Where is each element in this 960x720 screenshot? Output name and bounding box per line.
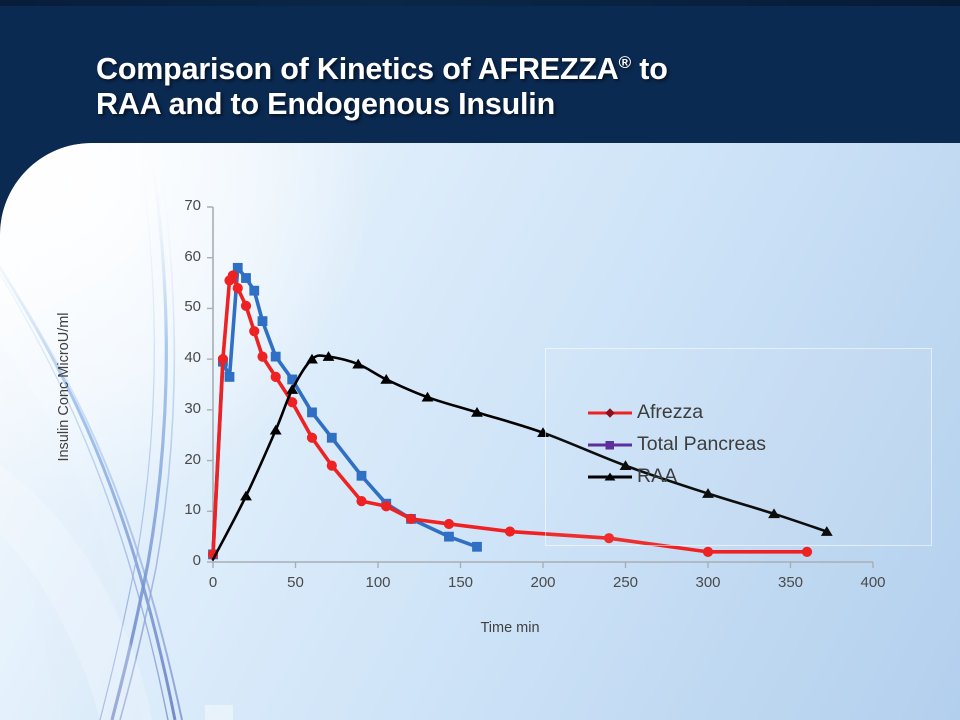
data-point bbox=[444, 519, 453, 528]
data-point bbox=[473, 542, 482, 551]
legend-marker-raa bbox=[586, 470, 634, 484]
data-point bbox=[382, 502, 391, 511]
data-point bbox=[703, 547, 712, 556]
series-line bbox=[213, 268, 477, 555]
page-title-line1: Comparison of Kinetics of AFREZZA bbox=[96, 52, 619, 86]
data-point bbox=[327, 461, 336, 470]
legend-marker-glyph bbox=[586, 438, 634, 452]
page-title-line1-tail: to bbox=[631, 52, 668, 86]
data-point bbox=[250, 286, 259, 295]
legend-label-afrezza: Afrezza bbox=[637, 401, 703, 424]
legend-label-raa: RAA bbox=[637, 465, 677, 488]
data-point bbox=[242, 274, 251, 283]
y-tick-label: 60 bbox=[169, 248, 201, 265]
insulin-kinetics-chart: 010203040506070 050100150200250300350400… bbox=[0, 143, 960, 720]
y-tick-label: 40 bbox=[169, 349, 201, 366]
registered-trademark-icon: ® bbox=[619, 53, 631, 72]
data-point bbox=[228, 271, 237, 280]
x-tick-label: 350 bbox=[766, 574, 816, 591]
data-point bbox=[250, 327, 259, 336]
legend-label-total-pancreas: Total Pancreas bbox=[637, 433, 766, 456]
legend-marker-total-pancreas bbox=[586, 438, 634, 452]
data-point bbox=[271, 425, 281, 434]
data-point bbox=[505, 527, 514, 536]
x-tick-label: 50 bbox=[271, 574, 321, 591]
data-point bbox=[241, 491, 251, 500]
data-point bbox=[271, 352, 280, 361]
header-top-strip bbox=[0, 0, 960, 6]
x-tick-label: 0 bbox=[188, 574, 238, 591]
data-point bbox=[258, 352, 267, 361]
x-tick-label: 200 bbox=[518, 574, 568, 591]
slide-root: Comparison of Kinetics of AFREZZA® to RA… bbox=[0, 0, 960, 720]
data-point bbox=[445, 532, 454, 541]
y-tick-label: 0 bbox=[169, 552, 201, 569]
legend-marker-afrezza bbox=[586, 406, 634, 420]
page-title: Comparison of Kinetics of AFREZZA® to RA… bbox=[96, 52, 876, 122]
data-point bbox=[258, 317, 267, 326]
content-panel: 010203040506070 050100150200250300350400… bbox=[0, 143, 960, 720]
x-axis-title: Time min bbox=[430, 620, 590, 636]
legend-marker-glyph bbox=[586, 406, 634, 420]
data-point bbox=[225, 372, 234, 381]
data-point bbox=[802, 547, 811, 556]
x-tick-label: 250 bbox=[601, 574, 651, 591]
data-point bbox=[308, 408, 317, 417]
data-point bbox=[357, 497, 366, 506]
legend-item-afrezza[interactable]: Afrezza bbox=[586, 401, 703, 424]
x-tick-label: 400 bbox=[848, 574, 898, 591]
y-tick-label: 50 bbox=[169, 298, 201, 315]
data-point bbox=[271, 372, 280, 381]
data-point bbox=[241, 301, 250, 310]
legend-item-total-pancreas[interactable]: Total Pancreas bbox=[586, 433, 766, 456]
x-tick-label: 150 bbox=[436, 574, 486, 591]
page-title-line2: RAA and to Endogenous Insulin bbox=[96, 87, 555, 121]
data-point bbox=[406, 514, 415, 523]
y-tick-label: 20 bbox=[169, 451, 201, 468]
y-axis-title: Insulin Conc MicroU/ml bbox=[56, 277, 72, 497]
data-point bbox=[307, 433, 316, 442]
chart-legend: Afrezza Total Pancreas RAA bbox=[545, 348, 932, 546]
data-point bbox=[233, 284, 242, 293]
data-point bbox=[357, 471, 366, 480]
legend-marker-glyph bbox=[586, 470, 634, 484]
y-tick-label: 10 bbox=[169, 501, 201, 518]
x-tick-label: 300 bbox=[683, 574, 733, 591]
y-tick-label: 70 bbox=[169, 197, 201, 214]
legend-item-raa[interactable]: RAA bbox=[586, 465, 677, 488]
data-point bbox=[218, 355, 227, 364]
y-tick-label: 30 bbox=[169, 400, 201, 417]
data-point bbox=[327, 433, 336, 442]
x-tick-label: 100 bbox=[353, 574, 403, 591]
